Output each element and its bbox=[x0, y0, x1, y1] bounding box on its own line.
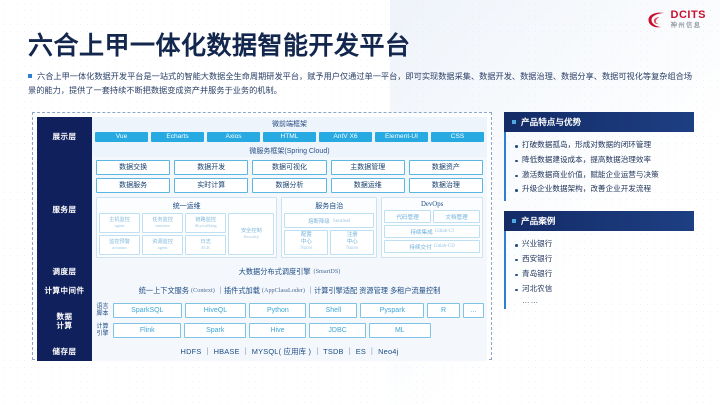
panel-service-autonomy: 服务自治 熔断降级 Sentinel 配置 中心 Nacos bbox=[281, 197, 377, 258]
middleware-sep-1: ｜ bbox=[217, 286, 224, 296]
devops-cell-doc-management[interactable]: 文档管理 bbox=[433, 210, 480, 223]
panel-title-devops: DevOps bbox=[384, 201, 480, 208]
ops-cell-alerting-en: actuator bbox=[112, 245, 127, 251]
slide-page: DCITS 神州信息 六合上甲一体化数据智能开发平台 六合上甲一体化数据开发平台… bbox=[0, 0, 720, 405]
layer-label-compute: 数据 计算 bbox=[37, 300, 92, 342]
ops-cell-logging[interactable]: 日志 ELK bbox=[185, 235, 226, 255]
presentation-body: 微前端框架 Vue Echarts Axios HTML AntV X6 Ele… bbox=[92, 117, 487, 157]
ops-cell-trace-monitor[interactable]: 链路监控 Skywalking bbox=[185, 213, 226, 233]
autonomy-registry-en: Nacos bbox=[346, 246, 358, 252]
layer-row-service: 服务层 数据交换 数据开发 数据可视化 主数据管理 数据资产 数据服务 实时计算… bbox=[37, 157, 487, 262]
compute-cell-r[interactable]: R bbox=[427, 303, 459, 318]
devops-row-3: 持续交付 Gitlab-CD bbox=[384, 240, 480, 253]
autonomy-cell-config-center[interactable]: 配置 中心 Nacos bbox=[284, 230, 328, 255]
compute-side-engine-line2: 引擎 bbox=[96, 331, 108, 338]
compute-side-labels: 语言 脚本 计算 引擎 bbox=[95, 303, 110, 339]
middleware-text: 统一上下文服务 (Context) ｜ 插件式加载 (AppClassLoder… bbox=[92, 281, 487, 300]
autonomy-cells: 配置 中心 Nacos 注册 中心 Nacos bbox=[284, 230, 374, 255]
middleware-part-1: 统一上下文服务 bbox=[139, 286, 189, 296]
service-box-data-service[interactable]: 数据服务 bbox=[96, 178, 170, 193]
ops-cell-resource-monitor[interactable]: 资源监控 agent bbox=[142, 235, 183, 255]
service-box-data-asset[interactable]: 数据资产 bbox=[409, 160, 483, 175]
layer-label-compute-line2: 计算 bbox=[57, 321, 73, 330]
chip-echarts[interactable]: Echarts bbox=[151, 132, 204, 142]
service-box-data-analysis[interactable]: 数据分析 bbox=[252, 178, 326, 193]
card-title-product-cases: 产品案例 bbox=[521, 215, 555, 227]
service-body: 数据交换 数据开发 数据可视化 主数据管理 数据资产 数据服务 实时计算 数据分… bbox=[92, 157, 487, 262]
list-item: 青岛银行 bbox=[514, 267, 686, 282]
layer-label-compute-line1: 数据 bbox=[57, 312, 73, 321]
chip-element-ui[interactable]: Element-UI bbox=[375, 132, 428, 142]
service-box-data-operations[interactable]: 数据运维 bbox=[331, 178, 405, 193]
ops-cell-security[interactable]: 安全控制 Security bbox=[228, 213, 274, 255]
autonomy-config-en: Nacos bbox=[300, 246, 312, 252]
devops-ci-cn: 持续集成 bbox=[410, 228, 432, 236]
bullet-square-icon bbox=[512, 120, 516, 124]
layer-row-storage: 储存层 HDFS ｜ HBASE ｜ MYSQL( 应用库 ) ｜ TSDB ｜… bbox=[37, 342, 487, 361]
ops-row-2: 监控预警 actuator 资源监控 agent 日志 bbox=[99, 235, 226, 255]
autonomy-config-line2: 中心 bbox=[301, 239, 312, 246]
devops-row-1: 代码管理 文档管理 bbox=[384, 210, 480, 223]
compute-side-label-engine: 计算 引擎 bbox=[95, 323, 110, 340]
compute-cell-hive[interactable]: Hive bbox=[249, 323, 306, 338]
ops-cell-resource-monitor-en: agent bbox=[158, 245, 168, 251]
swoosh-icon bbox=[647, 11, 667, 29]
compute-cell-python[interactable]: Python bbox=[249, 303, 306, 318]
compute-cell-sparksql[interactable]: SparkSQL bbox=[113, 303, 182, 318]
middleware-sep-2: ｜ bbox=[307, 286, 314, 296]
ops-cell-trace-monitor-en: Skywalking bbox=[195, 223, 217, 229]
service-box-row-1: 数据交换 数据开发 数据可视化 主数据管理 数据资产 bbox=[92, 157, 487, 175]
compute-cell-more[interactable]: ... bbox=[463, 303, 484, 318]
compute-cell-shell[interactable]: Shell bbox=[309, 303, 357, 318]
middleware-en-1: (Context) bbox=[191, 287, 215, 294]
brand-logo: DCITS 神州信息 bbox=[647, 10, 707, 29]
service-box-data-visualization[interactable]: 数据可视化 bbox=[252, 160, 326, 175]
compute-cell-hiveql[interactable]: HiveQL bbox=[185, 303, 247, 318]
ops-cell-security-en: Security bbox=[244, 234, 259, 240]
layer-label-storage: 储存层 bbox=[37, 342, 92, 361]
service-box-data-exchange[interactable]: 数据交换 bbox=[96, 160, 170, 175]
compute-cell-flink[interactable]: Flink bbox=[113, 323, 181, 338]
middleware-part-2: 插件式加载 bbox=[224, 286, 260, 296]
middleware-en-2: (AppClassLoder) bbox=[262, 287, 305, 294]
layer-label-middleware: 计算中间件 bbox=[37, 281, 92, 300]
layer-row-presentation: 展示层 微前端框架 Vue Echarts Axios HTML AntV X6… bbox=[37, 117, 487, 157]
compute-side-label-language: 语言 脚本 bbox=[95, 303, 110, 320]
list-item: 升级企业数据架构，改善企业开发流程 bbox=[514, 182, 686, 197]
ops-cell-host-monitor-en: agent bbox=[115, 223, 125, 229]
case-list: 兴业银行 西安银行 青岛银行 河北农信 bbox=[514, 237, 686, 296]
service-box-data-governance[interactable]: 数据治理 bbox=[409, 178, 483, 193]
autonomy-circuit-breaker-en: Sentinel bbox=[333, 218, 351, 224]
devops-ci-en: Gitlab-CI bbox=[435, 229, 454, 234]
micro-frontend-title: 微前端框架 bbox=[92, 117, 487, 130]
card-body-product-advantages: 打破数据孤岛，形成对数据的闭环管理 降低数据建设成本，提高数据治理效率 激活数据… bbox=[504, 132, 694, 201]
middleware-part-3: 计算引擎适配 资源管理 多租户流量控制 bbox=[314, 286, 440, 296]
devops-cd-cn: 持续交付 bbox=[409, 243, 431, 251]
compute-cell-pyspark[interactable]: Pyspark bbox=[360, 303, 424, 318]
presentation-chip-list: Vue Echarts Axios HTML AntV X6 Element-U… bbox=[92, 130, 487, 144]
brand-name-en: DCITS bbox=[671, 10, 707, 21]
autonomy-circuit-breaker-cn: 熔断降级 bbox=[308, 217, 330, 225]
service-box-row-2: 数据服务 实时计算 数据分析 数据运维 数据治理 bbox=[92, 175, 487, 193]
layer-row-compute: 数据 计算 语言 脚本 计算 引擎 SparkSQ bbox=[37, 300, 487, 342]
microservice-title: 微服务框架(Spring Cloud) bbox=[92, 144, 487, 157]
list-item: 兴业银行 bbox=[514, 237, 686, 252]
layer-label-schedule: 调度层 bbox=[37, 262, 92, 281]
ops-cell-alerting[interactable]: 监控预警 actuator bbox=[99, 235, 140, 255]
autonomy-registry-line2: 中心 bbox=[347, 239, 358, 246]
advantage-list: 打破数据孤岛，形成对数据的闭环管理 降低数据建设成本，提高数据治理效率 激活数据… bbox=[514, 138, 686, 197]
card-title-product-advantages: 产品特点与优势 bbox=[521, 116, 581, 128]
service-subpanels: 统一运维 主机监控 agent 任务监控 bbox=[92, 193, 487, 262]
card-header-product-advantages: 产品特点与优势 bbox=[504, 112, 694, 132]
autonomy-cell-registry-center[interactable]: 注册 中心 Nacos bbox=[330, 230, 374, 255]
compute-cell-spark[interactable]: Spark bbox=[184, 323, 246, 338]
compute-body: 语言 脚本 计算 引擎 SparkSQL HiveQL Python Shell… bbox=[92, 300, 487, 342]
architecture-diagram: 展示层 微前端框架 Vue Echarts Axios HTML AntV X6… bbox=[32, 112, 492, 360]
card-product-cases: 产品案例 兴业银行 西安银行 青岛银行 河北农信 …… bbox=[504, 211, 694, 309]
service-box-realtime-compute[interactable]: 实时计算 bbox=[174, 178, 248, 193]
ops-cell-task-monitor[interactable]: 任务监控 monitor bbox=[142, 213, 183, 233]
schedule-engine-cn: 大数据分布式调度引擎 bbox=[239, 267, 311, 277]
card-header-product-cases: 产品案例 bbox=[504, 211, 694, 231]
schedule-engine-text: 大数据分布式调度引擎 (SmartDS) bbox=[92, 262, 487, 281]
panel-title-service-autonomy: 服务自治 bbox=[284, 201, 374, 211]
ops-cell-task-monitor-en: monitor bbox=[155, 223, 170, 229]
page-description-text: 六合上甲一体化数据开发平台是一站式的智能大数据全生命周期研发平台，赋予用户仅通过… bbox=[28, 72, 692, 95]
list-item: 激活数据商业价值，赋能企业运营与决策 bbox=[514, 168, 686, 183]
chip-html[interactable]: HTML bbox=[263, 132, 316, 142]
devops-row-2: 持续集成 Gitlab-CI bbox=[384, 225, 480, 238]
chip-vue[interactable]: Vue bbox=[95, 132, 148, 142]
panel-title-unified-ops: 统一运维 bbox=[99, 201, 274, 211]
side-panel-column: 产品特点与优势 打破数据孤岛，形成对数据的闭环管理 降低数据建设成本，提高数据治… bbox=[504, 112, 694, 319]
layer-label-service: 服务层 bbox=[37, 157, 92, 262]
bullet-square-icon bbox=[512, 219, 516, 223]
devops-cell-continuous-integration[interactable]: 持续集成 Gitlab-CI bbox=[384, 225, 480, 238]
chip-axios[interactable]: Axios bbox=[207, 132, 260, 142]
compute-cell-jdbc[interactable]: JDBC bbox=[309, 323, 366, 338]
service-box-master-data-management[interactable]: 主数据管理 bbox=[331, 160, 405, 175]
compute-language-row: SparkSQL HiveQL Python Shell Pyspark R .… bbox=[113, 303, 484, 320]
list-item: 打破数据孤岛，形成对数据的闭环管理 bbox=[514, 138, 686, 153]
ops-cell-logging-en: ELK bbox=[201, 245, 210, 251]
panel-unified-ops: 统一运维 主机监控 agent 任务监控 bbox=[96, 197, 277, 258]
layer-row-schedule: 调度层 大数据分布式调度引擎 (SmartDS) bbox=[37, 262, 487, 281]
case-list-ellipsis: …… bbox=[514, 296, 686, 305]
autonomy-cell-circuit-breaker[interactable]: 熔断降级 Sentinel bbox=[284, 213, 374, 228]
devops-cell-code-management[interactable]: 代码管理 bbox=[384, 210, 431, 223]
compute-side-language-line2: 脚本 bbox=[96, 311, 108, 318]
panel-devops: DevOps 代码管理 文档管理 持续集成 Gitlab-CI bbox=[381, 197, 483, 258]
chip-css[interactable]: CSS bbox=[431, 132, 484, 142]
service-box-data-development[interactable]: 数据开发 bbox=[174, 160, 248, 175]
ops-row-1: 主机监控 agent 任务监控 monitor 链路监控 bbox=[99, 213, 226, 233]
bullet-square-icon bbox=[28, 74, 32, 78]
layer-row-middleware: 计算中间件 统一上下文服务 (Context) ｜ 插件式加载 (AppClas… bbox=[37, 281, 487, 300]
compute-engine-row: Flink Spark Hive JDBC ML bbox=[113, 323, 484, 340]
compute-side-engine-line1: 计算 bbox=[96, 324, 108, 331]
card-product-advantages: 产品特点与优势 打破数据孤岛，形成对数据的闭环管理 降低数据建设成本，提高数据治… bbox=[504, 112, 694, 201]
brand-name-cn: 神州信息 bbox=[671, 23, 707, 30]
list-item: 降低数据建设成本，提高数据治理效率 bbox=[514, 153, 686, 168]
page-title: 六合上甲一体化数据智能开发平台 bbox=[28, 26, 411, 62]
page-description: 六合上甲一体化数据开发平台是一站式的智能大数据全生命周期研发平台，赋予用户仅通过… bbox=[28, 70, 692, 99]
compute-rows: SparkSQL HiveQL Python Shell Pyspark R .… bbox=[113, 303, 484, 339]
ops-grid: 主机监控 agent 任务监控 monitor 链路监控 bbox=[99, 213, 226, 255]
layer-label-presentation: 展示层 bbox=[37, 117, 92, 157]
ops-cells: 主机监控 agent 任务监控 monitor 链路监控 bbox=[99, 213, 274, 255]
card-body-product-cases: 兴业银行 西安银行 青岛银行 河北农信 …… bbox=[504, 231, 694, 309]
ops-cell-host-monitor[interactable]: 主机监控 agent bbox=[99, 213, 140, 233]
devops-cell-continuous-delivery[interactable]: 持续交付 Gitlab-CD bbox=[384, 240, 480, 253]
devops-cd-en: Gitlab-CD bbox=[434, 244, 455, 249]
schedule-engine-en: (SmartDS) bbox=[314, 268, 341, 275]
list-item: 河北农信 bbox=[514, 282, 686, 297]
chip-antv-x6[interactable]: AntV X6 bbox=[319, 132, 372, 142]
compute-cell-ml[interactable]: ML bbox=[369, 323, 431, 338]
list-item: 西安银行 bbox=[514, 252, 686, 267]
storage-text: HDFS ｜ HBASE ｜ MYSQL( 应用库 ) ｜ TSDB ｜ ES … bbox=[92, 342, 487, 361]
